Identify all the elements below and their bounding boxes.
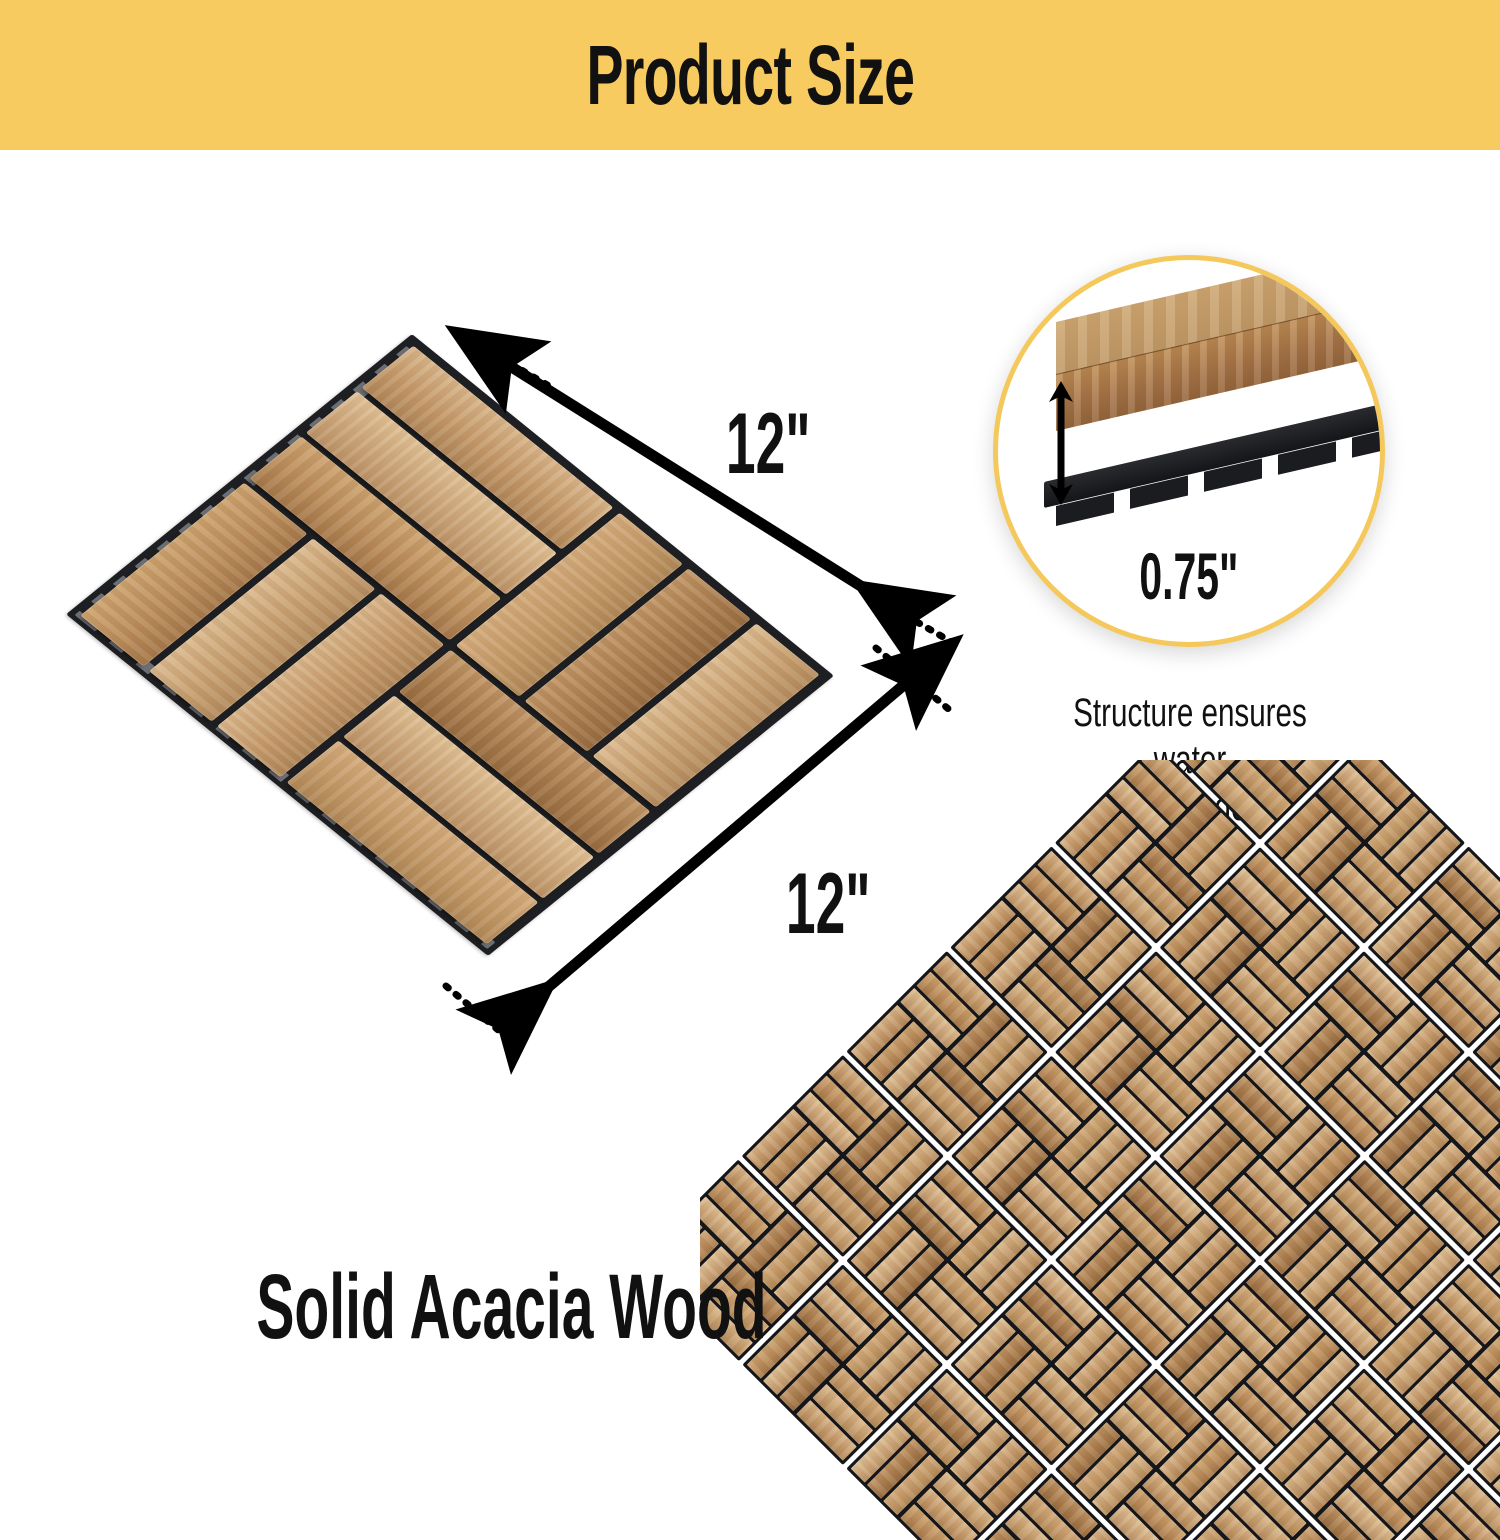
page-title: Product Size xyxy=(586,33,914,117)
height-double-arrow-icon xyxy=(1038,378,1084,508)
material-heading: Solid Acacia Wood xyxy=(100,1255,923,1360)
dimension-label-top: 12" xyxy=(700,395,836,494)
header-banner: Product Size xyxy=(0,0,1500,150)
installed-deck-floor xyxy=(700,760,1500,1540)
thickness-callout-circle: 0.75" xyxy=(993,255,1385,647)
thickness-label: 0.75" xyxy=(998,538,1380,614)
floor-tile-grid xyxy=(700,760,1500,1540)
